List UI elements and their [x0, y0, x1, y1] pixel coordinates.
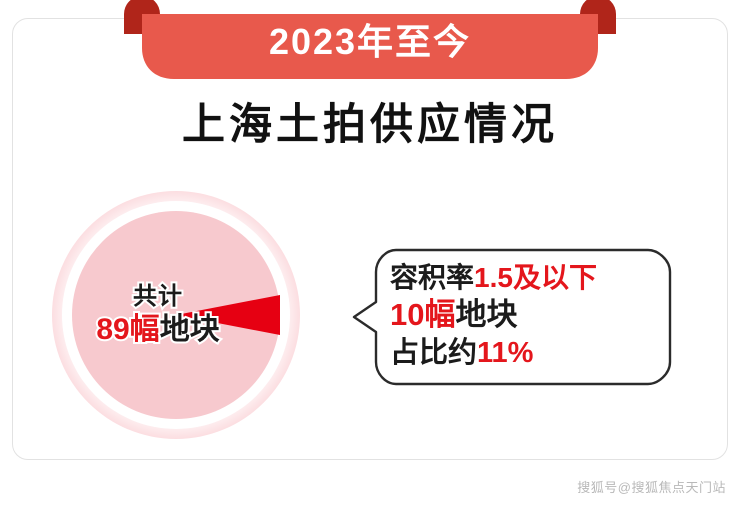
callout-line-2-label: 地块	[455, 297, 517, 332]
pie-total-prefix: 共计	[70, 284, 246, 311]
pie-chart: 共计 89幅地块	[44, 188, 334, 438]
callout-line-3-label: 占比约	[390, 337, 477, 369]
watermark: 搜狐号@搜狐焦点天门站	[577, 477, 726, 496]
callout-line-1-label: 容积率	[390, 262, 474, 293]
callout-content: 容积率1.5及以下 10幅地块 占比约11%	[390, 262, 662, 371]
callout-line-3: 占比约11%	[390, 337, 662, 371]
pie-total-unit: 地块	[160, 313, 220, 346]
pie-total-value: 89幅地块	[70, 313, 246, 347]
callout-line-2-value: 10幅	[390, 297, 455, 332]
page-title: 上海土拍供应情况	[0, 97, 740, 153]
callout-line-1-value: 1.5及以下	[474, 262, 597, 293]
callout-line-2: 10幅地块	[390, 297, 662, 333]
callout-line-3-value: 11%	[477, 337, 533, 369]
pie-total-number: 89幅	[96, 313, 159, 346]
callout-line-1: 容积率1.5及以下	[390, 262, 662, 294]
callout-bubble: 容积率1.5及以下 10幅地块 占比约11%	[352, 248, 672, 386]
pie-center-label: 共计 89幅地块	[70, 284, 246, 346]
